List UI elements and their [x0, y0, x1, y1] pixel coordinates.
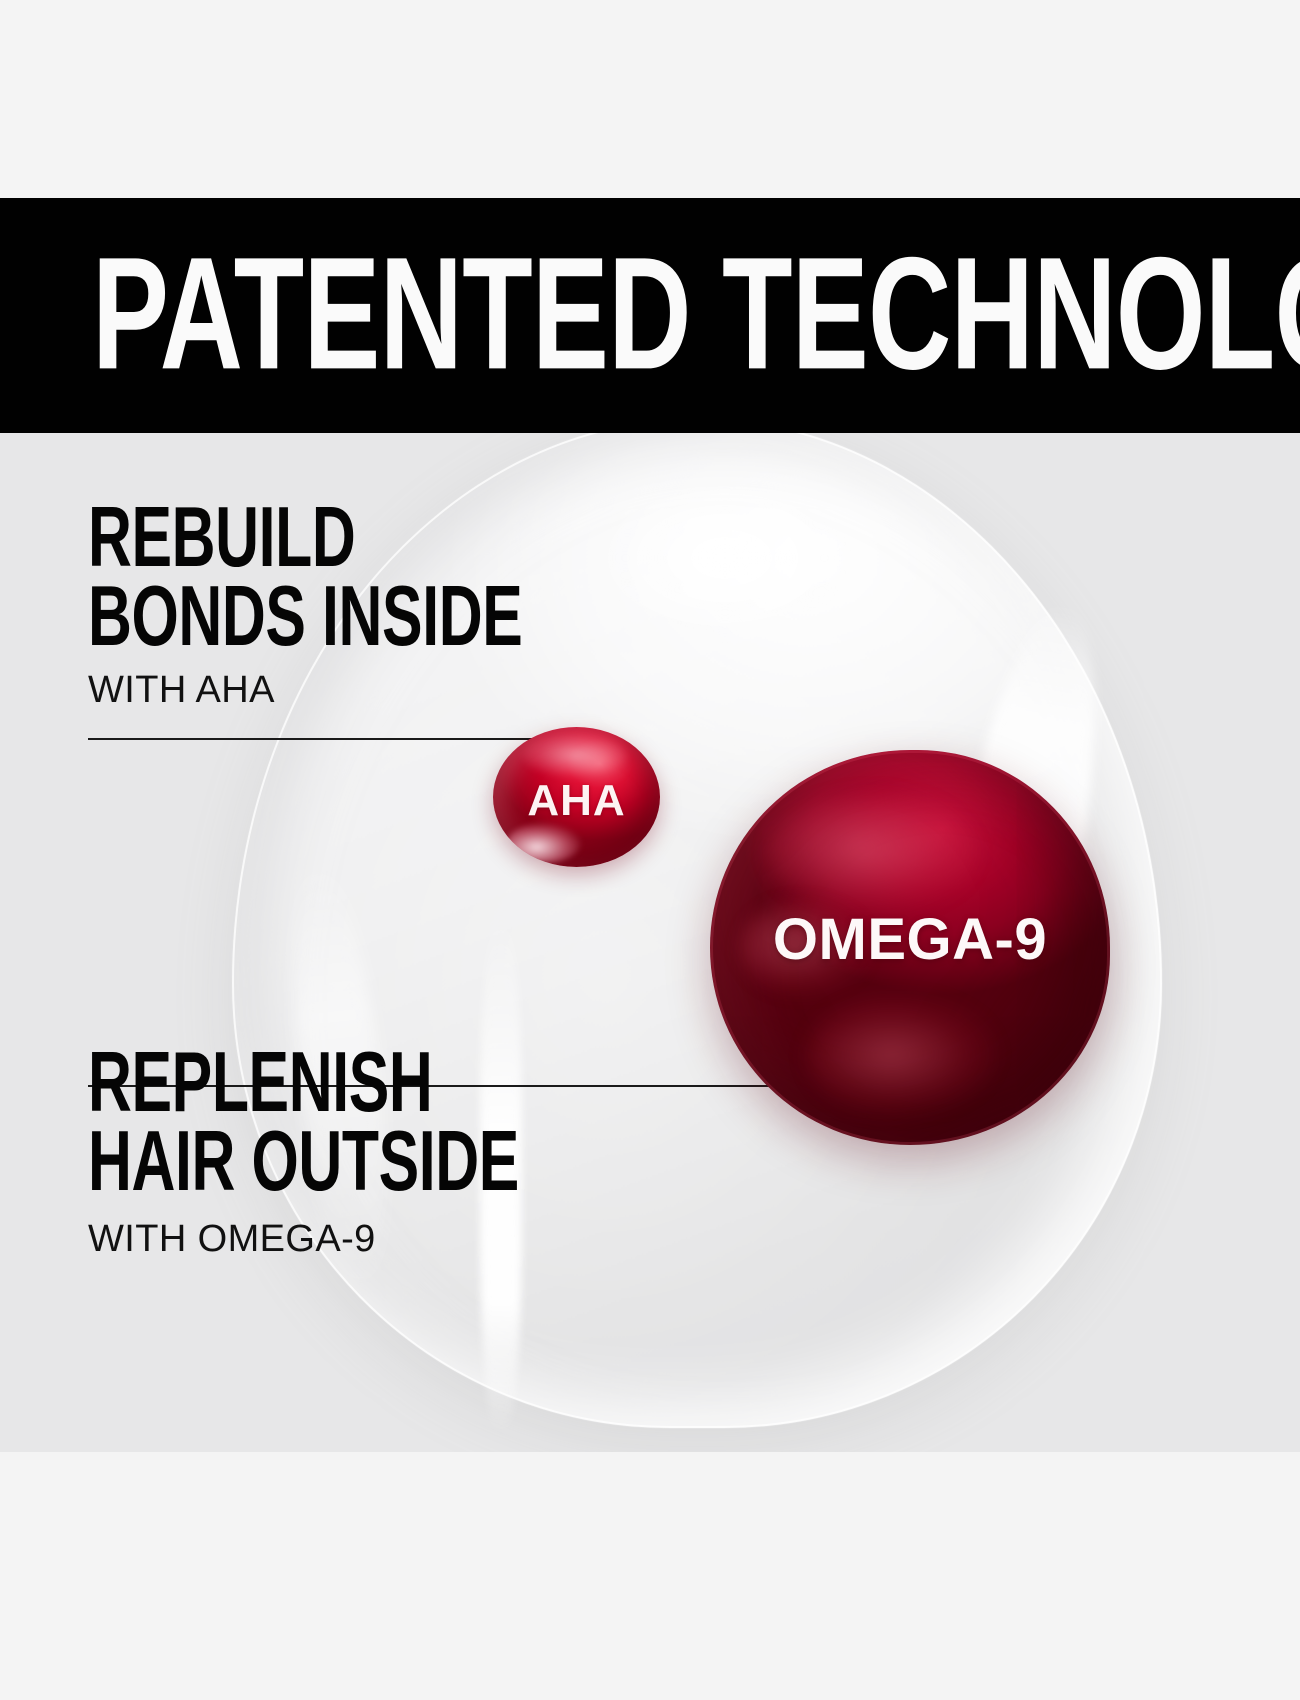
- bottom-background-band: [0, 1452, 1300, 1700]
- claim-headline-line2: BONDS INSIDE: [88, 572, 522, 660]
- claim-replenish-hair-outside: REPLENISH HAIR OUTSIDE WITH OMEGA-9: [88, 1038, 627, 1262]
- aha-bead-highlight-bottom: [507, 823, 581, 863]
- aha-bead-highlight-top: [523, 733, 627, 777]
- droplet-highlight-top: [600, 483, 850, 633]
- claim-subline: WITH OMEGA-9: [88, 1216, 627, 1262]
- infographic-canvas: PATENTED TECHNOLOGY REBUILD BONDS INSIDE…: [0, 0, 1300, 1700]
- aha-bead-label: AHA: [527, 776, 625, 826]
- banner-title: PATENTED TECHNOLOGY: [92, 228, 1300, 401]
- aha-bead: AHA: [493, 727, 660, 867]
- claim-rebuild-bonds-inside: REBUILD BONDS INSIDE WITH AHA: [88, 493, 631, 713]
- connector-rule-aha: [88, 738, 546, 740]
- patented-technology-banner: PATENTED TECHNOLOGY: [0, 198, 1300, 433]
- claim-subline: WITH AHA: [88, 667, 631, 713]
- omega9-bead: OMEGA-9: [710, 750, 1110, 1145]
- main-visual-panel: REBUILD BONDS INSIDE WITH AHA REPLENISH …: [0, 433, 1300, 1452]
- omega9-bead-label: OMEGA-9: [773, 906, 1047, 973]
- top-background-band: [0, 0, 1300, 198]
- claim-headline-line2: HAIR OUTSIDE: [88, 1117, 519, 1205]
